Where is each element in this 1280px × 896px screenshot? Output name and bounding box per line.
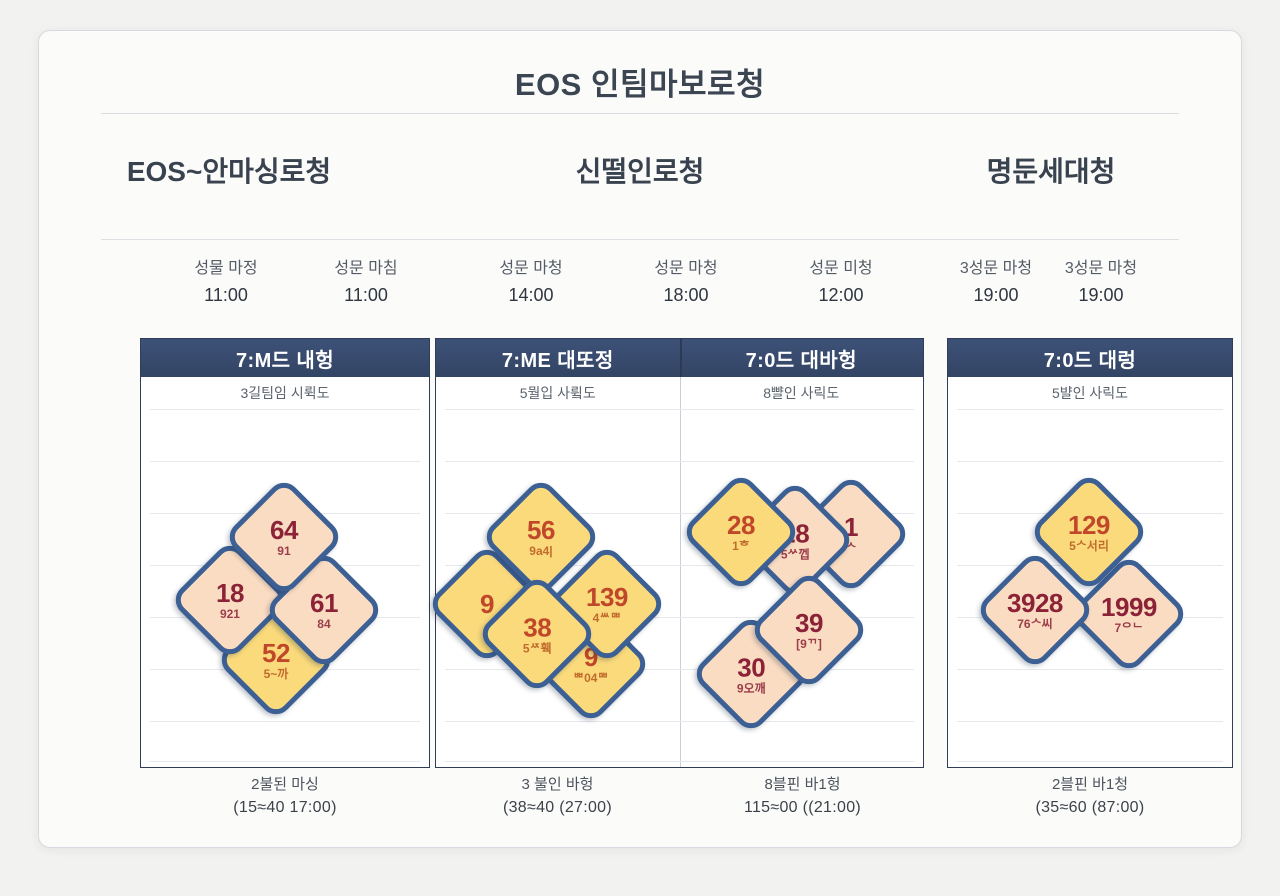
- diamond-card-sublabel: 76ᄉ씨: [1007, 618, 1063, 630]
- section-header-row: EOS~안마싱로청 신떨인로청 명둔세대청: [69, 139, 1211, 201]
- time-column-1: 성물 마정11:00: [151, 257, 301, 309]
- diamond-card-content: 281ᄒ: [727, 512, 755, 552]
- diamond-card-sublabel: 5ᄽ껩: [781, 548, 810, 560]
- diamond-card-sublabel: 5ᄶ훽: [523, 642, 552, 654]
- panel-3: 7:0드 대렁 5뱔인 사릭도 1295ᄉ서리392876ᄉ씨19997ᄋᄂ: [947, 338, 1233, 768]
- panel-2-footer-a-line2: (38≈40 (27:00): [435, 796, 680, 821]
- diamond-card-number: 56: [527, 517, 555, 543]
- time-label-row: 성물 마정11:00성문 마침11:00성문 마청14:00성문 마청18:00…: [101, 257, 1179, 319]
- time-column-3-label: 성문 마청: [456, 257, 606, 282]
- panel-2-footer-b-line1: 8블핀 바1헝: [680, 773, 925, 796]
- diamond-card-content: 525~까: [262, 640, 290, 680]
- diamond-card-sublabel: [9ᄁ]: [795, 638, 823, 650]
- diamond-card-content: 18921: [216, 580, 244, 620]
- page-title: EOS 인팀마보로청: [39, 59, 1241, 104]
- time-column-3: 성문 마청14:00: [456, 257, 606, 309]
- diamond-card-content: 309오깨: [737, 654, 766, 694]
- diamond-card-content: 392876ᄉ씨: [1007, 590, 1063, 630]
- time-column-1-label: 성물 마정: [151, 257, 301, 282]
- time-column-5: 성문 미청12:00: [766, 257, 916, 309]
- diamond-card-number: 39: [795, 610, 823, 636]
- diamond-card-sublabel: 9오깨: [737, 682, 766, 694]
- panel-1-footer: 2불된 마싱 (15≈40 17:00): [140, 773, 430, 821]
- diamond-card-sublabel: 91: [270, 545, 298, 557]
- diamond-card-content: 39[9ᄁ]: [795, 610, 823, 650]
- diamond-card-content: 9: [480, 591, 494, 617]
- panel-3-footer-line1: 2블핀 바1청: [947, 773, 1233, 796]
- diamond-card-number: 1999: [1101, 594, 1157, 620]
- diamond-card-sublabel: 84: [310, 618, 338, 630]
- diamond-card-number: 28: [727, 512, 755, 538]
- section-heading-1: EOS~안마싱로청: [69, 150, 389, 190]
- panel-3-card-cluster: 1295ᄉ서리392876ᄉ씨19997ᄋᄂ: [948, 339, 1232, 767]
- diamond-card-sublabel: 1ᄒ: [727, 540, 755, 552]
- panel-1-card-cluster: 6491189216184525~까: [141, 339, 429, 767]
- diamond-card-content: 1295ᄉ서리: [1068, 512, 1110, 552]
- diamond-card-number: 129: [1068, 512, 1110, 538]
- time-column-5-value: 12:00: [766, 282, 916, 309]
- panel-3-footer-line2: (35≈60 (87:00): [947, 796, 1233, 821]
- time-column-5-label: 성문 미청: [766, 257, 916, 282]
- time-column-2: 성문 마침11:00: [291, 257, 441, 309]
- time-column-3-value: 14:00: [456, 282, 606, 309]
- section-divider: [101, 239, 1179, 240]
- panel-2-footer-a: 3 불인 바헝 (38≈40 (27:00): [435, 773, 680, 821]
- diamond-card-content: 6491: [270, 517, 298, 557]
- diamond-card-content: 569a4|: [527, 517, 555, 557]
- poster-card: EOS 인팀마보로청 EOS~안마싱로청 신떨인로청 명둔세대청 성물 마정11…: [38, 30, 1242, 848]
- diamond-card-number: 38: [523, 614, 552, 640]
- diamond-card-content: 385ᄶ훽: [523, 614, 552, 654]
- diamond-card-number: 139: [586, 584, 628, 610]
- panel-1: 7:M드 내헝 3길팀임 시뤽도 6491189216184525~까: [140, 338, 430, 768]
- panel-2-card-cluster: 569a4|91394ᄴᄜ385ᄶ훽9ᄈ04ᄜ281ᄒ285ᄽ껩1ᄉ39[9ᄁ]…: [436, 339, 923, 767]
- diamond-card-sublabel: 5~까: [262, 668, 290, 680]
- time-column-4-value: 18:00: [611, 282, 761, 309]
- diamond-card-content: 19997ᄋᄂ: [1101, 594, 1157, 634]
- diamond-card-number: 61: [310, 590, 338, 616]
- diamond-card-sublabel: 5ᄉ서리: [1068, 540, 1110, 552]
- panel-2-footer-b-line2: 115≈00 ((21:00): [680, 796, 925, 821]
- diamond-card-content: 6184: [310, 590, 338, 630]
- diamond-card-sublabel: 9a4|: [527, 545, 555, 557]
- panel-2-footer-b: 8블핀 바1헝 115≈00 ((21:00): [680, 773, 925, 821]
- panel-3-footer: 2블핀 바1청 (35≈60 (87:00): [947, 773, 1233, 821]
- panel-1-footer-line1: 2불된 마싱: [140, 773, 430, 796]
- time-column-2-label: 성문 마침: [291, 257, 441, 282]
- time-column-2-value: 11:00: [291, 282, 441, 309]
- diamond-card-number: 30: [737, 654, 766, 680]
- time-column-4-label: 성문 마청: [611, 257, 761, 282]
- time-column-7-label: 3성문 마청: [1026, 257, 1176, 282]
- diamond-card-sublabel: ᄈ04ᄜ: [573, 672, 608, 684]
- panel-2: 7:ME 대또정 7:0드 대바헝 5뭘입 사륔도 8뺠인 사릭도 569a4|…: [435, 338, 924, 768]
- diamond-card-sublabel: 921: [216, 608, 244, 620]
- diamond-card-number: 9: [480, 591, 494, 617]
- title-divider: [101, 113, 1179, 114]
- panel-2-footer-a-line1: 3 불인 바헝: [435, 773, 680, 796]
- time-column-1-value: 11:00: [151, 282, 301, 309]
- section-heading-3: 명둔세대청: [891, 150, 1211, 190]
- diamond-card-content: 1394ᄴᄜ: [586, 584, 628, 624]
- diamond-card-number: 52: [262, 640, 290, 666]
- diamond-card-number: 3928: [1007, 590, 1063, 616]
- time-column-7: 3성문 마청19:00: [1026, 257, 1176, 309]
- diamond-card-number: 64: [270, 517, 298, 543]
- panel-1-footer-line2: (15≈40 17:00): [140, 796, 430, 821]
- time-column-7-value: 19:00: [1026, 282, 1176, 309]
- diamond-card-number: 18: [216, 580, 244, 606]
- time-column-4: 성문 마청18:00: [611, 257, 761, 309]
- section-heading-2: 신떨인로청: [389, 150, 891, 190]
- diamond-card-sublabel: 4ᄴᄜ: [586, 612, 628, 624]
- diamond-card-sublabel: 7ᄋᄂ: [1101, 622, 1157, 634]
